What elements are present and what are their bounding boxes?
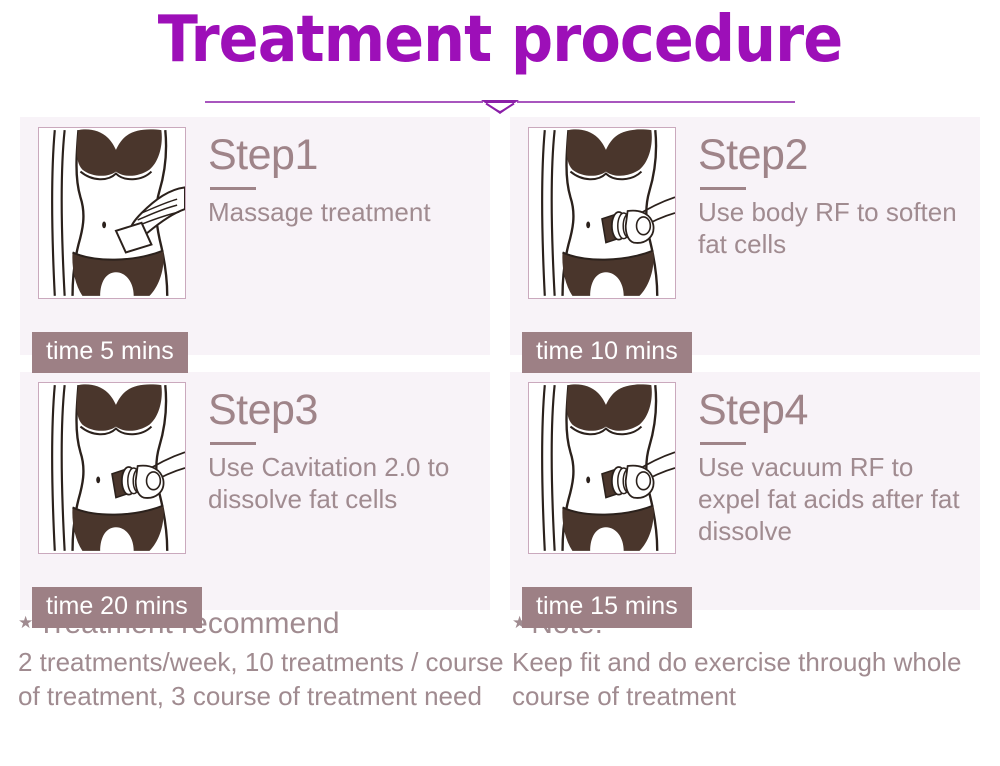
step-1-illustration: [38, 127, 186, 299]
step-card-3[interactable]: Step3 Use Cavitation 2.0 to dissolve fat…: [20, 372, 490, 610]
step-4-description: Use vacuum RF to expel fat acids after f…: [698, 451, 980, 547]
step-card-4[interactable]: Step4 Use vacuum RF to expel fat acids a…: [510, 372, 980, 610]
step-3-title: Step3: [208, 386, 490, 434]
step-1-text: Step1 Massage treatment: [208, 127, 490, 228]
step-2-time-badge: time 10 mins: [522, 332, 692, 373]
page-title: Treatment procedure: [40, 4, 960, 76]
step-4-text: Step4 Use vacuum RF to expel fat acids a…: [698, 382, 980, 547]
step-2-text: Step2 Use body RF to soften fat cells: [698, 127, 980, 260]
step-card-2[interactable]: Step2 Use body RF to soften fat cells ti…: [510, 117, 980, 355]
step-1-title: Step1: [208, 131, 490, 179]
torso-hand-applicator-icon: [39, 128, 185, 298]
step-4-illustration: [528, 382, 676, 554]
step-card-1[interactable]: Step1 Massage treatment time 5 mins: [20, 117, 490, 355]
step-4-time-badge: time 15 mins: [522, 587, 692, 628]
step-3-time-badge: time 20 mins: [32, 587, 202, 628]
step-1-description: Massage treatment: [208, 196, 490, 228]
treatment-recommend-body: 2 treatments/week, 10 treatments / cours…: [18, 645, 512, 713]
torso-cavitation-handpiece-icon: [39, 383, 185, 553]
step-4-rule: [700, 442, 746, 445]
title-divider: [0, 92, 1000, 116]
star-icon: ★: [18, 614, 33, 631]
steps-grid: Step1 Massage treatment time 5 mins: [20, 117, 980, 610]
step-3-rule: [210, 442, 256, 445]
step-1-rule: [210, 187, 256, 190]
step-3-description: Use Cavitation 2.0 to dissolve fat cells: [208, 451, 490, 515]
step-3-text: Step3 Use Cavitation 2.0 to dissolve fat…: [208, 382, 490, 515]
step-2-description: Use body RF to soften fat cells: [698, 196, 980, 260]
torso-vacuum-rf-handpiece-icon: [529, 383, 675, 553]
step-1-time-badge: time 5 mins: [32, 332, 188, 373]
torso-rf-handpiece-icon: [529, 128, 675, 298]
step-2-rule: [700, 187, 746, 190]
chevron-down-notch-icon: [0, 92, 1000, 116]
step-3-illustration: [38, 382, 186, 554]
title-block: Treatment procedure: [0, 4, 1000, 76]
step-2-illustration: [528, 127, 676, 299]
infographic-page: Treatment procedure: [0, 0, 1000, 766]
step-4-title: Step4: [698, 386, 980, 434]
step-2-title: Step2: [698, 131, 980, 179]
note-body: Keep fit and do exercise through whole c…: [512, 645, 986, 713]
